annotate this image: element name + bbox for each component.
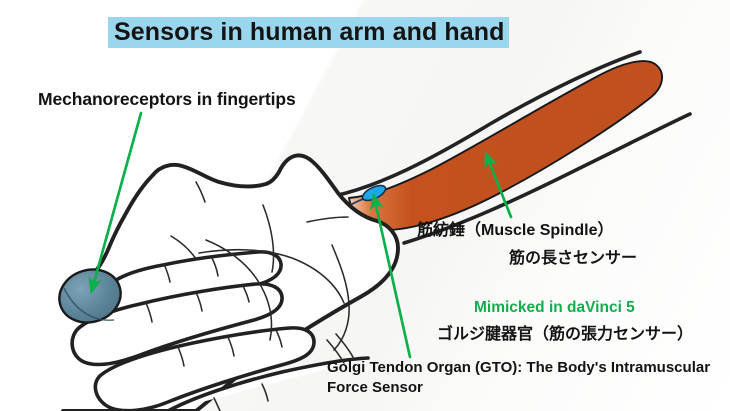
- label-golgi-tendon-organ-japanese: ゴルジ腱器官（筋の張力センサー）: [437, 320, 693, 344]
- label-mimicked-in-davinci: Mimicked in daVinci 5: [474, 299, 635, 317]
- slide-canvas: Sensors in human arm and hand Mechanorec…: [0, 0, 730, 411]
- page-title: Sensors in human arm and hand: [108, 17, 509, 48]
- anatomy-illustration: [0, 0, 730, 411]
- label-muscle-spindle-line1: 筋紡錘（Muscle Spindle）: [417, 222, 613, 239]
- page-title-text: Sensors in human arm and hand: [108, 17, 509, 48]
- label-golgi-tendon-organ-english: Golgi Tendon Organ (GTO): The Body's Int…: [327, 358, 727, 398]
- label-muscle-spindle-line2: 筋の長さセンサー: [417, 245, 637, 273]
- label-muscle-spindle: 筋紡錘（Muscle Spindle） 筋の長さセンサー: [417, 217, 637, 273]
- label-mechanoreceptors: Mechanoreceptors in fingertips: [38, 89, 296, 110]
